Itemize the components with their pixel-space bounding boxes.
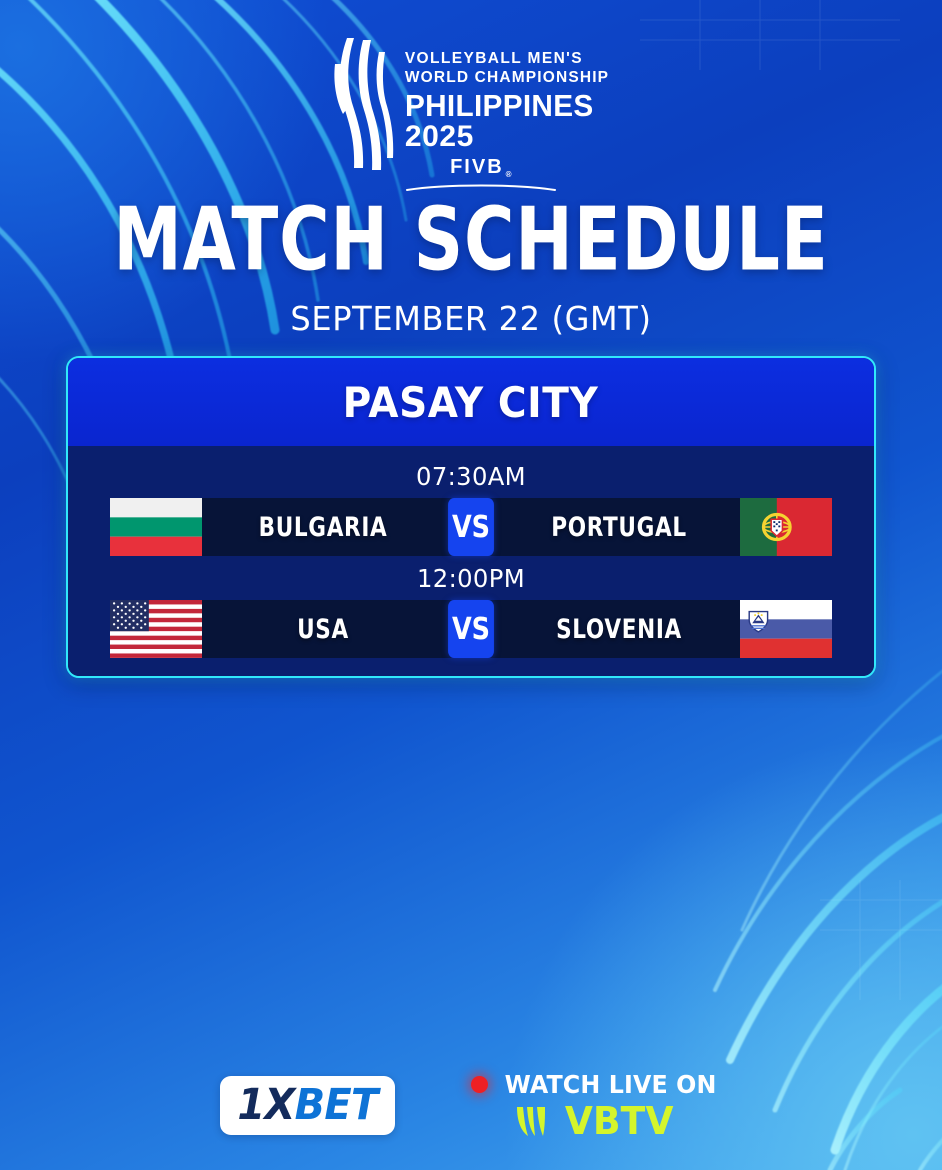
1xbet-logo[interactable]: 1X BET xyxy=(220,1076,394,1135)
page-title: MATCH SCHEDULE xyxy=(94,196,848,284)
logo-host: PHILIPPINES xyxy=(405,90,601,122)
sponsor-part2: BET xyxy=(295,1083,378,1125)
home-team-name: BULGARIA xyxy=(226,498,420,556)
event-logo: VOLLEYBALL MEN'S WORLD CHAMPIONSHIP PHIL… xyxy=(0,34,942,197)
table-row[interactable]: USA VS SLOVENIA xyxy=(110,600,832,658)
vs-badge: VS xyxy=(448,498,494,556)
watch-live-block: WATCH LIVE ON VBTV xyxy=(471,1070,722,1140)
match-time: 07:30AM xyxy=(121,454,821,498)
match-item[interactable]: 07:30AM BULGARIA VS PORTUGAL xyxy=(68,454,874,556)
away-team-name: SLOVENIA xyxy=(522,600,716,658)
vbtv-logo[interactable]: VBTV xyxy=(515,1102,676,1140)
fivb-trophy-icon xyxy=(333,34,395,174)
venue-header: PASAY CITY xyxy=(68,358,874,446)
flag-bulgaria-icon xyxy=(110,498,202,556)
logo-year: 2025 xyxy=(405,121,609,153)
live-dot-icon xyxy=(471,1076,488,1093)
match-item[interactable]: 12:00PM xyxy=(68,556,874,658)
flag-slovenia-icon xyxy=(740,600,832,658)
vbtv-wordmark: VBTV xyxy=(565,1102,674,1140)
flag-portugal-icon xyxy=(740,498,832,556)
footer: 1X BET WATCH LIVE ON VBTV xyxy=(0,1060,942,1150)
page-subtitle: SEPTEMBER 22 (GMT) xyxy=(14,300,928,338)
match-time: 12:00PM xyxy=(121,556,821,600)
flag-usa-icon xyxy=(110,600,202,658)
logo-line2: WORLD CHAMPIONSHIP xyxy=(405,69,609,88)
away-team-name: PORTUGAL xyxy=(522,498,716,556)
sponsor-part1: 1X xyxy=(237,1083,294,1125)
vbtv-logo-icon xyxy=(515,1105,553,1138)
schedule-card: PASAY CITY 07:30AM BULGARIA VS PORTUGAL xyxy=(66,356,876,678)
home-team-name: USA xyxy=(226,600,420,658)
vs-badge: VS xyxy=(448,600,494,658)
watch-live-label: WATCH LIVE ON xyxy=(504,1070,716,1099)
logo-line1: VOLLEYBALL MEN'S xyxy=(405,50,609,69)
table-row[interactable]: BULGARIA VS PORTUGAL xyxy=(110,498,832,556)
registered-mark-icon: ® xyxy=(506,170,512,179)
venue-name: PASAY CITY xyxy=(343,378,599,427)
logo-federation: FIVB xyxy=(450,156,504,179)
match-list: 07:30AM BULGARIA VS PORTUGAL xyxy=(68,446,874,676)
